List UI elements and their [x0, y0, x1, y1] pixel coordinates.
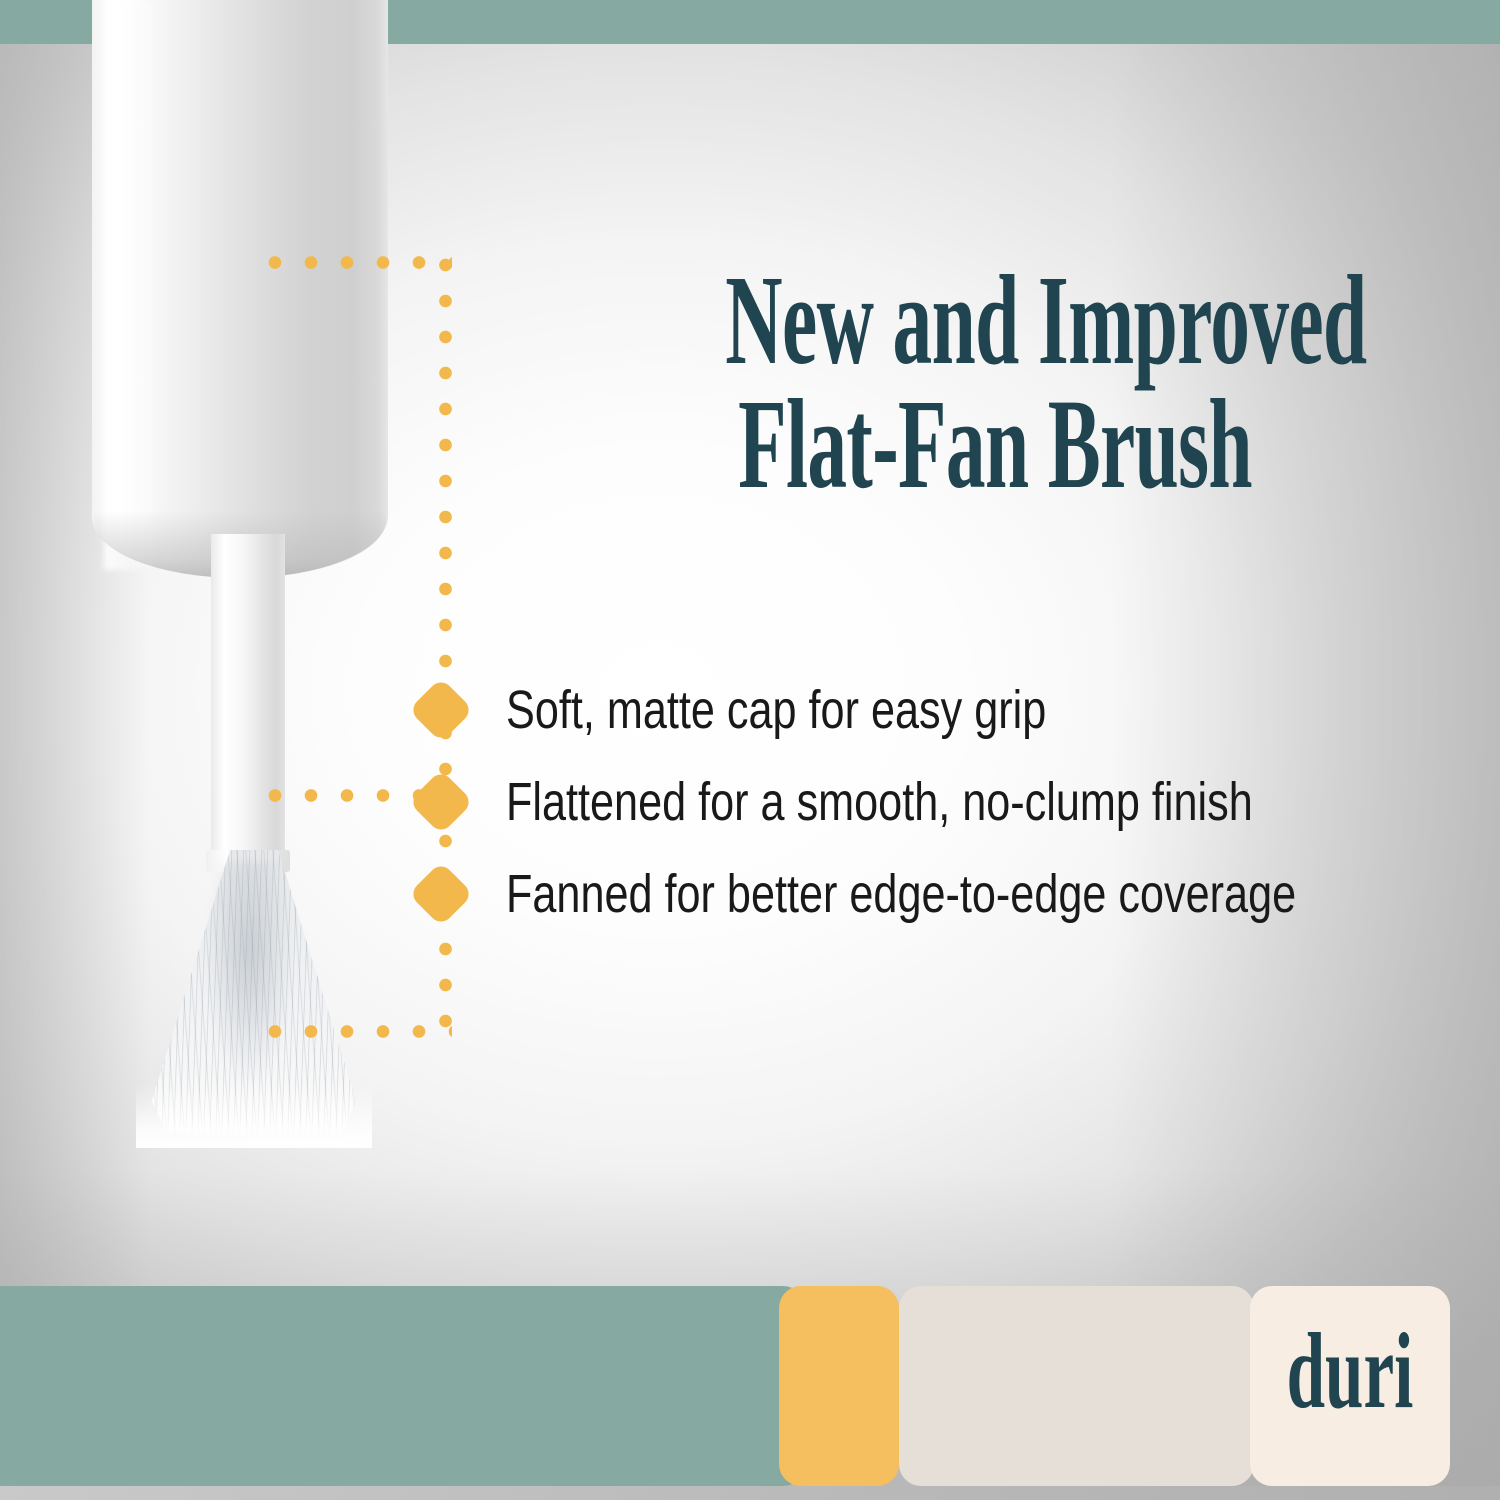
- footer-color-bar: duri: [0, 1278, 1500, 1500]
- diamond-bullet-icon: [408, 769, 473, 834]
- headline-line-1: New and Improved: [725, 258, 1264, 382]
- footer-underline-strip: [0, 1486, 1500, 1500]
- headline-line-2: Flat-Fan Brush: [725, 382, 1264, 506]
- dotted-line-top: [266, 256, 452, 269]
- dotted-line-bottom: [266, 1025, 452, 1038]
- feature-item-1: Soft, matte cap for easy grip: [418, 664, 1468, 756]
- footer-block-beige: [899, 1286, 1254, 1486]
- footer-block-sage: [0, 1286, 805, 1486]
- feature-label: Flattened for a smooth, no-clump finish: [506, 775, 1253, 829]
- feature-list: Soft, matte cap for easy grip Flattened …: [418, 664, 1468, 940]
- bristle-core-shade: [206, 862, 293, 1084]
- feature-label: Soft, matte cap for easy grip: [506, 683, 1046, 737]
- bristle-tip-fade: [136, 1084, 371, 1148]
- page-title: New and Improved Flat-Fan Brush: [725, 258, 1264, 506]
- brand-logo: duri: [1286, 1318, 1414, 1426]
- infographic-canvas: New and Improved Flat-Fan Brush Soft, ma…: [0, 0, 1500, 1500]
- brush-cap-highlight: [104, 0, 160, 570]
- brush-bristles: [145, 850, 363, 1142]
- brush-handle: [211, 534, 285, 864]
- footer-block-amber: [779, 1286, 899, 1486]
- diamond-bullet-icon: [408, 861, 473, 926]
- feature-item-3: Fanned for better edge-to-edge coverage: [418, 848, 1468, 940]
- diamond-bullet-icon: [408, 677, 473, 742]
- feature-item-2: Flattened for a smooth, no-clump finish: [418, 756, 1468, 848]
- feature-label: Fanned for better edge-to-edge coverage: [506, 867, 1296, 921]
